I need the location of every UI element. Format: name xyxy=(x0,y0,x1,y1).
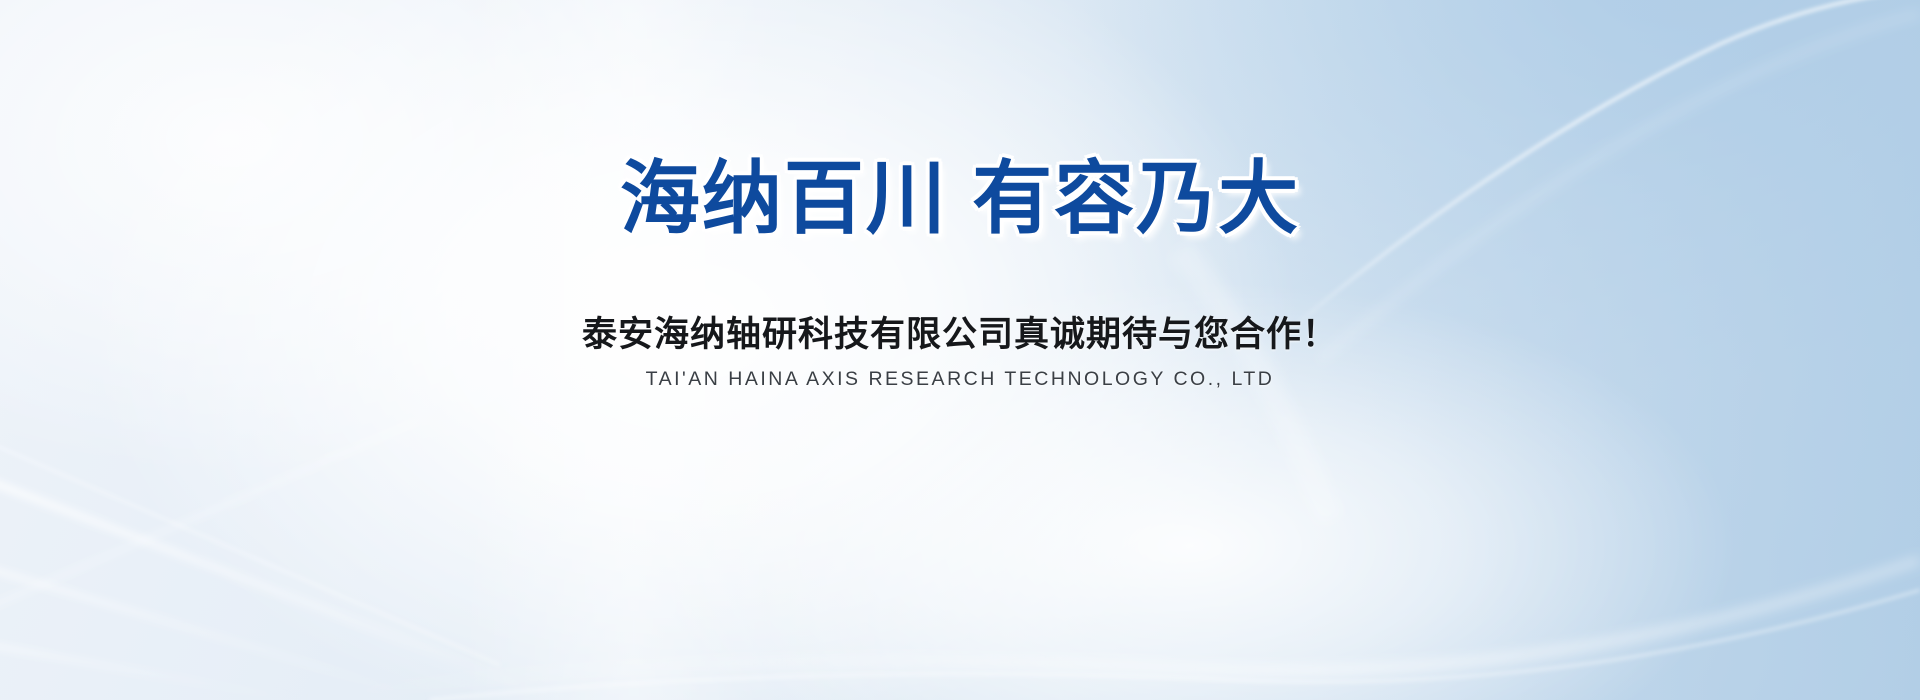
banner-content: 海纳百川 有容乃大 泰安海纳轴研科技有限公司真诚期待与您合作！ TAI'AN H… xyxy=(0,0,1920,700)
hero-banner: 海纳百川 有容乃大 泰安海纳轴研科技有限公司真诚期待与您合作！ TAI'AN H… xyxy=(0,0,1920,700)
subtitle-english: TAI'AN HAINA AXIS RESEARCH TECHNOLOGY CO… xyxy=(646,368,1275,391)
page-title: 海纳百川 有容乃大 xyxy=(620,158,1300,240)
subtitle-chinese: 泰安海纳轴研科技有限公司真诚期待与您合作！ xyxy=(582,306,1338,357)
